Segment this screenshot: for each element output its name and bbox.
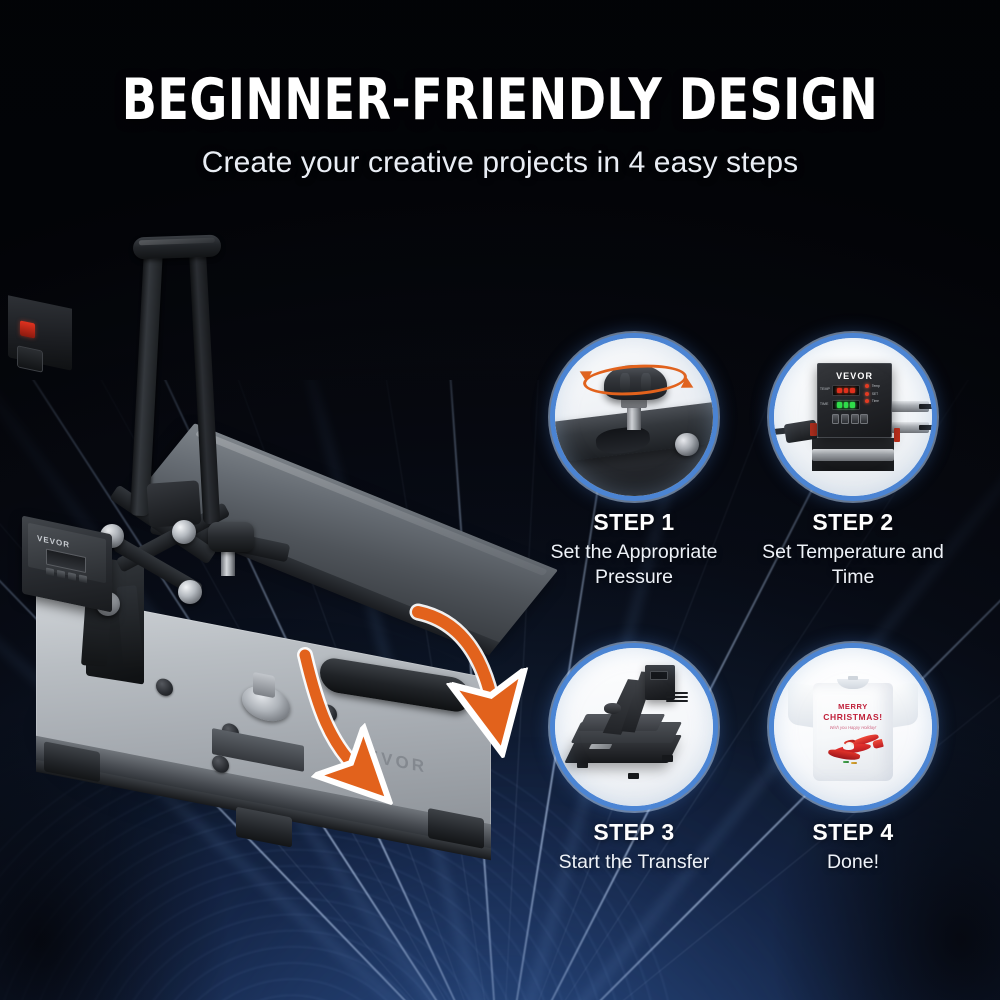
step-4-image-bubble: MERRY CHRISTMAS! Wish you Happy Holiday! bbox=[774, 648, 932, 806]
panel-button[interactable] bbox=[851, 414, 859, 424]
step-card-2[interactable]: VEVOR TEMP TIME Temp SET Time bbox=[748, 338, 958, 590]
step-2-image-bubble: VEVOR TEMP TIME Temp SET Time bbox=[774, 338, 932, 496]
led-label: Temp bbox=[872, 384, 880, 388]
panel-buttons[interactable] bbox=[832, 414, 869, 424]
print-line-3: Wish you Happy Holiday! bbox=[823, 725, 883, 730]
panel-button[interactable] bbox=[860, 414, 868, 424]
led-label: Time bbox=[872, 399, 879, 403]
panel-temp-label: TEMP bbox=[820, 387, 830, 391]
panel-time-display bbox=[832, 400, 861, 411]
panel-brand: VEVOR bbox=[818, 371, 892, 381]
step-card-4[interactable]: MERRY CHRISTMAS! Wish you Happy Holiday! bbox=[748, 648, 958, 875]
step-1-image-bubble bbox=[555, 338, 713, 496]
print-line-2: CHRISTMAS! bbox=[823, 712, 883, 723]
tshirt-print: MERRY CHRISTMAS! Wish you Happy Holiday! bbox=[823, 701, 883, 757]
print-line-1: MERRY bbox=[823, 701, 883, 712]
step-4-title: STEP 4 bbox=[748, 819, 958, 846]
santa-plane-graphic bbox=[823, 733, 883, 764]
panel-temp-display bbox=[832, 385, 861, 396]
step-4-desc: Done! bbox=[748, 850, 958, 875]
control-panel-icon: VEVOR TEMP TIME Temp SET Time bbox=[817, 363, 893, 437]
panel-indicator-leds: Temp SET Time bbox=[865, 384, 887, 407]
step-card-1[interactable]: STEP 1 Set the Appropriate Pressure bbox=[529, 338, 739, 590]
step-1-title: STEP 1 bbox=[529, 509, 739, 536]
step-2-title: STEP 2 bbox=[748, 509, 958, 536]
step-2-desc: Set Temperature and Time bbox=[748, 540, 958, 590]
promo-banner: BEGINNER-FRIENDLY DESIGN Create your cre… bbox=[0, 0, 1000, 1000]
step-3-title: STEP 3 bbox=[529, 819, 739, 846]
panel-button[interactable] bbox=[841, 414, 849, 424]
step-3-image-bubble bbox=[555, 648, 713, 806]
printed-tshirt-icon: MERRY CHRISTMAS! Wish you Happy Holiday! bbox=[788, 673, 918, 780]
step-1-desc: Set the Appropriate Pressure bbox=[529, 540, 739, 590]
step-3-desc: Start the Transfer bbox=[529, 850, 739, 875]
steps-grid: STEP 1 Set the Appropriate Pressure VEVO… bbox=[0, 0, 1000, 1000]
led-label: SET bbox=[872, 392, 878, 396]
panel-button[interactable] bbox=[832, 414, 840, 424]
panel-time-label: TIME bbox=[820, 402, 829, 406]
step-card-3[interactable]: STEP 3 Start the Transfer bbox=[529, 648, 739, 875]
